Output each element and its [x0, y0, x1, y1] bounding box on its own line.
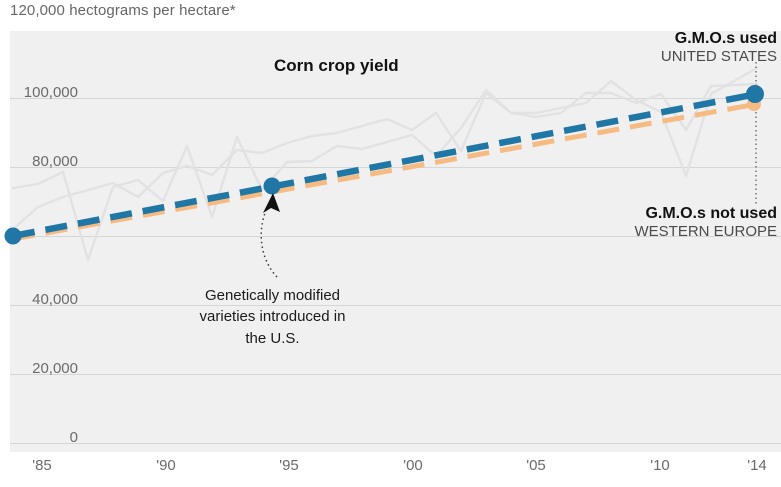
series-label-we-main: G.M.O.s not used	[634, 205, 777, 223]
marker-united-states-1985	[5, 228, 22, 245]
x-tick-label-2010: '10	[650, 457, 670, 474]
gridlines	[10, 99, 781, 444]
chart-figure: 120,000 hectograms per hectare*	[0, 0, 781, 487]
x-tick-label-2014: '14	[747, 457, 767, 474]
series-label-united-states: G.M.O.s used UNITED STATES	[661, 30, 777, 66]
annotation-arrowhead	[263, 193, 280, 213]
y-tick-label-20000: 20,000	[0, 360, 78, 377]
marker-united-states-1995	[264, 178, 281, 195]
annotation-line-3: the U.S.	[170, 328, 375, 349]
y-tick-label-100000: 100,000	[0, 84, 78, 101]
x-tick-label-2000: '00	[403, 457, 423, 474]
annotation-text-block: Genetically modified varieties introduce…	[170, 285, 375, 349]
series-label-western-europe: G.M.O.s not used WESTERN EUROPE	[634, 205, 777, 241]
y-tick-label-80000: 80,000	[0, 153, 78, 170]
y-tick-label-0: 0	[0, 429, 78, 446]
annotation-leader-line	[261, 206, 277, 277]
x-tick-label-1990: '90	[156, 457, 176, 474]
y-tick-label-40000: 40,000	[0, 291, 78, 308]
series-label-we-sub: WESTERN EUROPE	[634, 223, 777, 241]
x-tick-label-2005: '05	[526, 457, 546, 474]
series-label-us-sub: UNITED STATES	[661, 48, 777, 66]
marker-united-states-2014	[746, 85, 764, 103]
x-tick-label-1995: '95	[279, 457, 299, 474]
series-label-us-main: G.M.O.s used	[661, 30, 777, 48]
chart-title: Corn crop yield	[274, 56, 399, 76]
x-tick-label-1985: '85	[32, 457, 52, 474]
annotation-line-1: Genetically modified	[170, 285, 375, 306]
annotation-line-2: varieties introduced in	[170, 306, 375, 327]
